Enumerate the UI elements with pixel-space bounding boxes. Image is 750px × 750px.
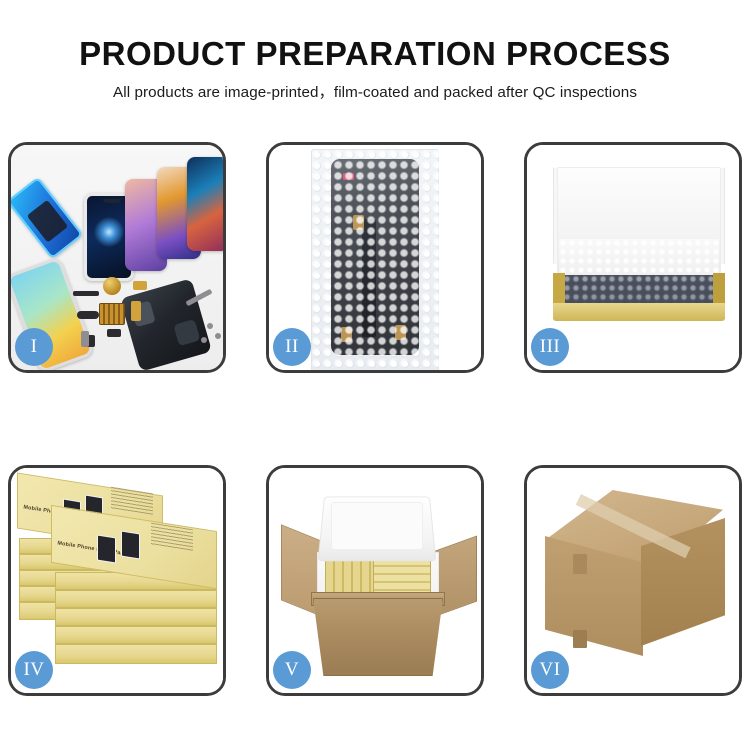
kraft-tray-front-wall — [553, 303, 725, 321]
retail-box-thumb-front-a — [97, 534, 116, 563]
part-sim-tray — [81, 331, 89, 347]
page-title: PRODUCT PREPARATION PROCESS — [0, 34, 750, 74]
retail-box-thumb-front-b — [121, 530, 140, 559]
box-edge-r3 — [55, 608, 217, 626]
page-subtitle: All products are image-printed，film-coat… — [0, 83, 750, 103]
flex-cable — [362, 219, 376, 337]
step-4-badge: IV — [15, 651, 53, 689]
part-screw-a — [207, 323, 213, 329]
foam-lid-inner-face — [331, 502, 423, 550]
part-chip-array — [99, 303, 125, 325]
part-cable-a — [77, 311, 99, 319]
box-edge-r5 — [55, 644, 217, 664]
process-step-6[interactable]: VI — [524, 465, 742, 696]
part-connector — [107, 329, 121, 337]
carton-seam-upper — [573, 554, 587, 574]
process-step-grid: I II III — [8, 142, 742, 696]
part-earpiece — [73, 291, 99, 296]
step-6-badge: VI — [531, 651, 569, 689]
flex-tab-right — [395, 325, 406, 340]
phone-wave-display — [187, 157, 223, 251]
carton-seam-lower — [573, 630, 587, 648]
part-speaker-coil — [103, 277, 121, 295]
box-edge-r4 — [55, 626, 217, 644]
part-screw-b — [215, 333, 221, 339]
process-step-3[interactable]: III — [524, 142, 742, 373]
pink-label-sticker — [343, 173, 354, 180]
flex-tab-left — [341, 327, 352, 342]
part-screw-c — [201, 337, 207, 343]
process-step-1[interactable]: I — [8, 142, 226, 373]
process-step-2[interactable]: II — [266, 142, 484, 373]
step-2-badge: II — [273, 328, 311, 366]
process-step-4[interactable]: Mobile Phone Spare Parts Mobile Phone Sp… — [8, 465, 226, 696]
step-1-badge: I — [15, 328, 53, 366]
page-header: PRODUCT PREPARATION PROCESS All products… — [0, 0, 750, 103]
carton-body — [313, 598, 443, 676]
part-gold-flex-a — [133, 281, 147, 290]
step-5-badge: V — [273, 651, 311, 689]
part-gold-flex-b — [131, 301, 141, 321]
step-3-badge: III — [531, 328, 569, 366]
box-edge-r2 — [55, 590, 217, 608]
flex-tab-top — [353, 215, 364, 230]
process-step-5[interactable]: V — [266, 465, 484, 696]
